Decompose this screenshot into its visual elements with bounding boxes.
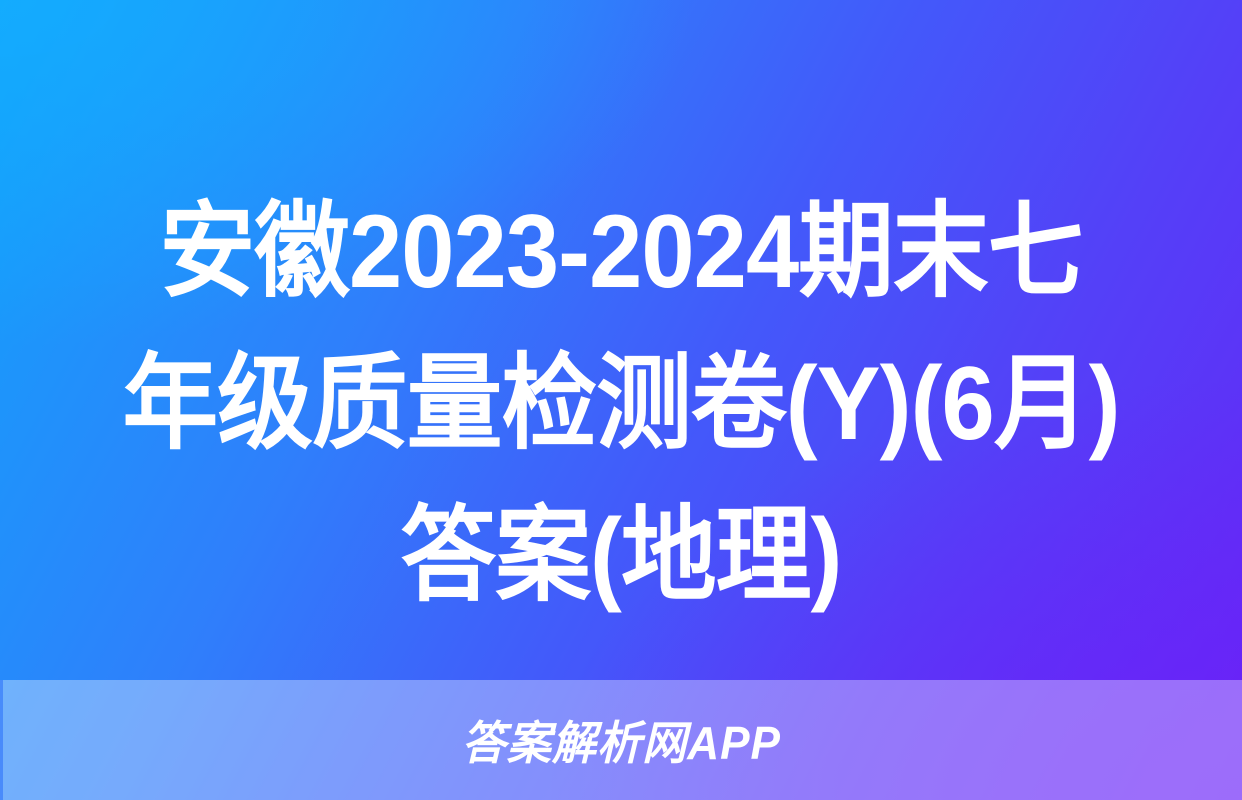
answer-card: 安徽2023-2024期末七 年级质量检测卷(Y)(6月) 答案(地理) 答案解… (0, 0, 1242, 800)
title-line-1: 安徽2023-2024期末七 (50, 176, 1193, 328)
app-watermark-label: 答案解析网APP (461, 707, 780, 773)
footer-watermark-band: 答案解析网APP (0, 680, 1242, 800)
title-line-3: 答案(地理) (50, 480, 1193, 632)
page-title: 安徽2023-2024期末七 年级质量检测卷(Y)(6月) 答案(地理) (0, 176, 1242, 632)
title-line-2: 年级质量检测卷(Y)(6月) (50, 328, 1193, 480)
